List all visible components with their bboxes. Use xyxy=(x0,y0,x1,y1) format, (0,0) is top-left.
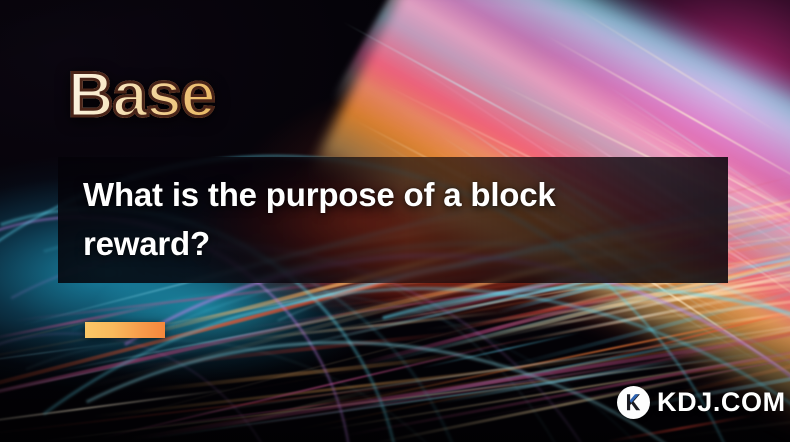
logo-wordmark: KDJ.COM xyxy=(657,389,786,416)
site-logo[interactable]: KDJ.COM xyxy=(617,386,786,419)
accent-bar xyxy=(85,322,165,338)
brand-title: Base xyxy=(68,64,215,127)
promo-banner: Base What is the purpose of a block rewa… xyxy=(0,0,790,442)
headline-text: What is the purpose of a block reward? xyxy=(83,171,683,269)
k-circle-icon xyxy=(617,386,650,419)
